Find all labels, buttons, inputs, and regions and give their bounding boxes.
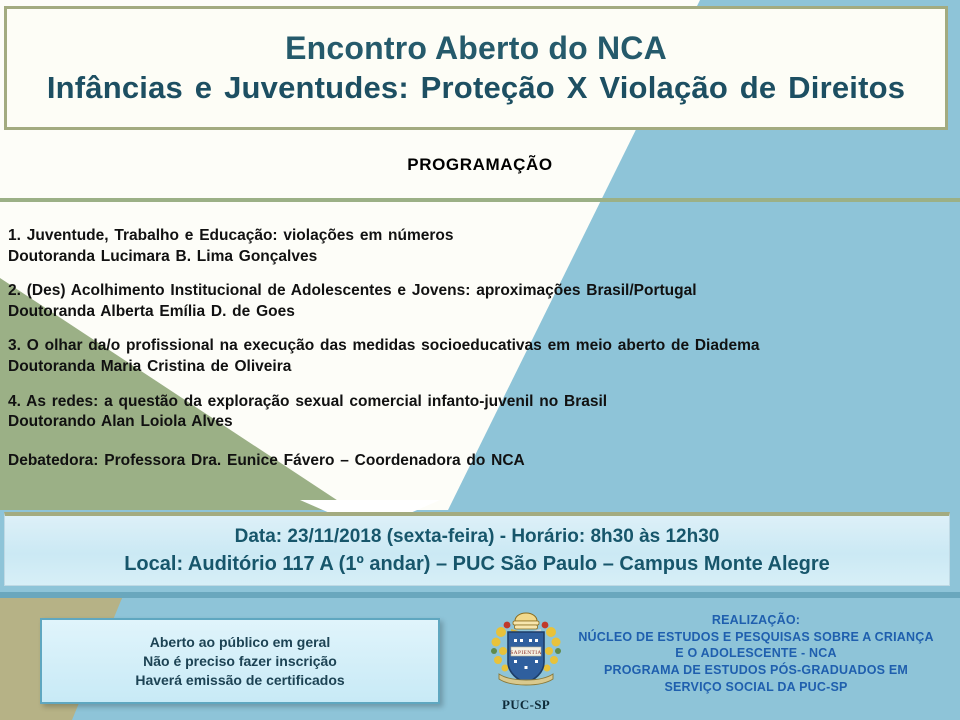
realizacao-label: REALIZAÇÃO: <box>560 612 952 629</box>
realizacao-line-5: SERVIÇO SOCIAL DA PUC-SP <box>560 679 952 696</box>
poster-title-box: Encontro Aberto do NCA Infâncias e Juven… <box>4 6 948 130</box>
realizacao-line-4: PROGRAMA DE ESTUDOS PÓS-GRADUADOS EM <box>560 662 952 679</box>
program-item: 2. (Des) Acolhimento Institucional de Ad… <box>8 281 952 322</box>
program-item-title: 3. O olhar da/o profissional na execução… <box>8 336 952 357</box>
background-bottom-strip <box>0 592 960 600</box>
poster-title-line-2: Infâncias e Juventudes: Proteção X Viola… <box>47 72 905 105</box>
realizacao-line-3: E O ADOLESCENTE - NCA <box>560 645 952 662</box>
puc-sp-logo-label: PUC-SP <box>502 697 550 713</box>
event-location: Local: Auditório 117 A (1º andar) – PUC … <box>124 553 830 576</box>
event-poster: Encontro Aberto do NCA Infâncias e Juven… <box>0 0 960 720</box>
program-item-title: 1. Juventude, Trabalho e Educação: viola… <box>8 226 952 247</box>
event-date-time: Data: 23/11/2018 (sexta-feira) - Horário… <box>235 526 720 548</box>
info-line-no-registration: Não é preciso fazer inscrição <box>143 653 337 669</box>
program-list: 1. Juventude, Trabalho e Educação: viola… <box>8 226 952 471</box>
program-heading: PROGRAMAÇÃO <box>0 155 960 175</box>
attendance-info-box: Aberto ao público em geral Não é preciso… <box>40 618 440 704</box>
puc-sp-logo: SAPIENTIA PUC-SP <box>484 610 568 714</box>
svg-text:SAPIENTIA: SAPIENTIA <box>510 650 541 656</box>
program-debater: Debatedora: Professora Dra. Eunice Fáver… <box>8 451 952 472</box>
realizacao-block: REALIZAÇÃO: NÚCLEO DE ESTUDOS E PESQUISA… <box>560 612 952 695</box>
info-line-open-to-public: Aberto ao público em geral <box>150 634 330 650</box>
event-details-box: Data: 23/11/2018 (sexta-feira) - Horário… <box>4 512 950 586</box>
puc-sp-crest-icon: SAPIENTIA <box>489 610 563 696</box>
section-divider <box>0 198 960 202</box>
program-item: 3. O olhar da/o profissional na execução… <box>8 336 952 377</box>
program-item-author: Doutoranda Alberta Emília D. de Goes <box>8 302 952 323</box>
realizacao-line-2: NÚCLEO DE ESTUDOS E PESQUISAS SOBRE A CR… <box>560 629 952 646</box>
program-item: 1. Juventude, Trabalho e Educação: viola… <box>8 226 952 267</box>
info-line-certificates: Haverá emissão de certificados <box>135 672 344 688</box>
poster-title-line-1: Encontro Aberto do NCA <box>285 32 667 66</box>
program-item-title: 4. As redes: a questão da exploração sex… <box>8 392 952 413</box>
program-item: 4. As redes: a questão da exploração sex… <box>8 392 952 433</box>
program-item-author: Doutoranda Maria Cristina de Oliveira <box>8 357 952 378</box>
program-item-author: Doutorando Alan Loiola Alves <box>8 412 952 433</box>
program-item-author: Doutoranda Lucimara B. Lima Gonçalves <box>8 247 952 268</box>
program-item-title: 2. (Des) Acolhimento Institucional de Ad… <box>8 281 952 302</box>
